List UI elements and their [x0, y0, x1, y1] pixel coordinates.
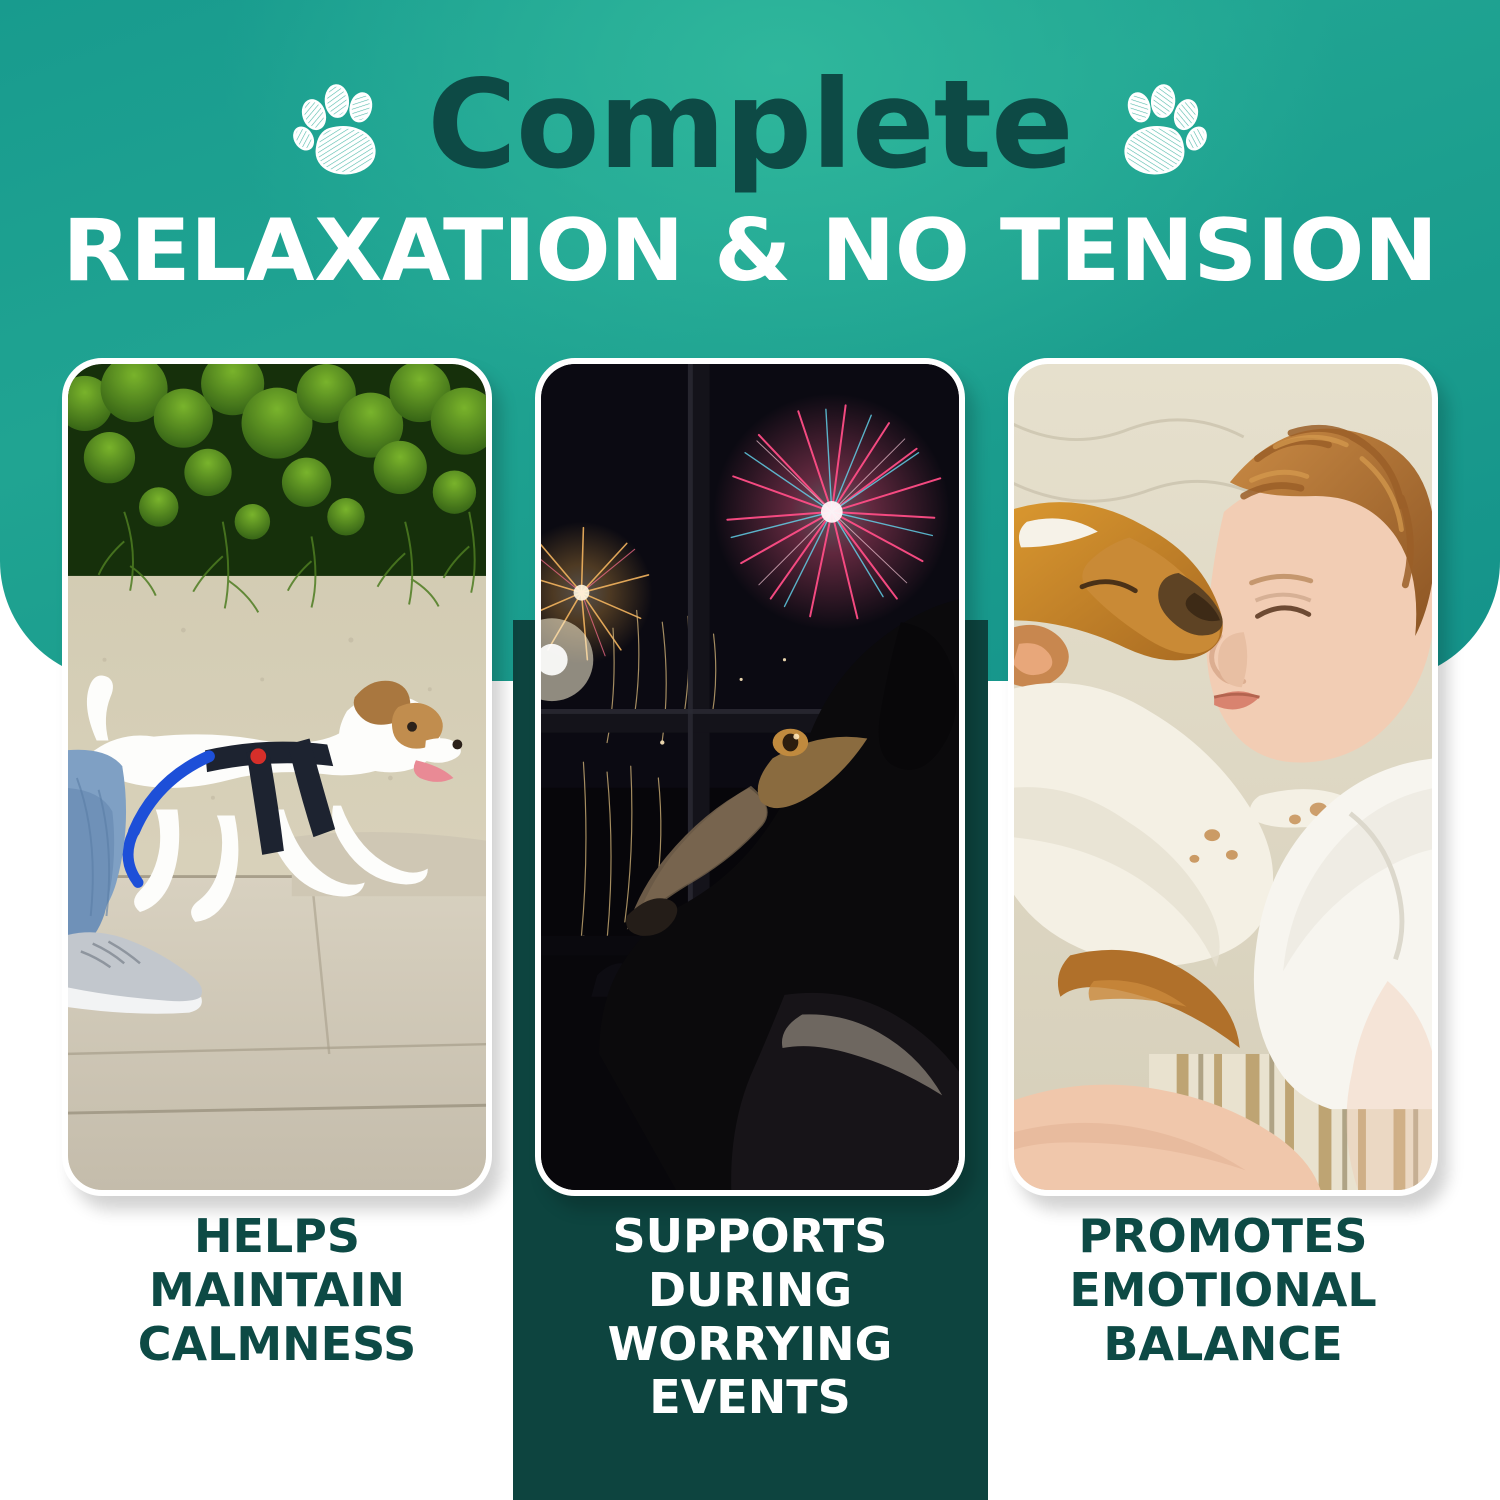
photo-child-hugging-dog: [1014, 364, 1432, 1190]
feature-captions-row: HELPS MAINTAIN CALMNESS SUPPORTS DURING …: [0, 1210, 1500, 1500]
subheadline-text: RELAXATION & NO TENSION: [0, 208, 1500, 294]
headline-row: Complete: [0, 0, 1500, 186]
caption-line: SUPPORTS: [535, 1210, 965, 1264]
feature-card-emotional-balance: [1008, 358, 1438, 1196]
caption-line: WORRYING: [535, 1318, 965, 1372]
infographic-stage: Complete RELAXATION & NO TENSION: [0, 0, 1500, 1500]
caption-helps-maintain-calmness: HELPS MAINTAIN CALMNESS: [62, 1210, 492, 1371]
headline-text: Complete: [427, 64, 1072, 186]
caption-line: EMOTIONAL: [1008, 1264, 1438, 1318]
paw-print-icon: [287, 73, 393, 177]
caption-line: HELPS: [62, 1210, 492, 1264]
caption-line: DURING: [535, 1264, 965, 1318]
caption-line: CALMNESS: [62, 1318, 492, 1372]
banner-header: Complete RELAXATION & NO TENSION: [0, 0, 1500, 294]
caption-line: PROMOTES: [1008, 1210, 1438, 1264]
caption-line: BALANCE: [1008, 1318, 1438, 1372]
feature-cards-row: [0, 358, 1500, 1198]
photo-dog-on-leash: [68, 364, 486, 1190]
feature-card-worrying-events: [535, 358, 965, 1196]
caption-promotes-emotional-balance: PROMOTES EMOTIONAL BALANCE: [1008, 1210, 1438, 1371]
caption-line: EVENTS: [535, 1371, 965, 1425]
feature-card-calmness: [62, 358, 492, 1196]
paw-print-icon: [1107, 73, 1213, 177]
photo-dog-watching-fireworks: [541, 364, 959, 1190]
caption-line: MAINTAIN: [62, 1264, 492, 1318]
caption-supports-during-worrying-events: SUPPORTS DURING WORRYING EVENTS: [535, 1210, 965, 1425]
